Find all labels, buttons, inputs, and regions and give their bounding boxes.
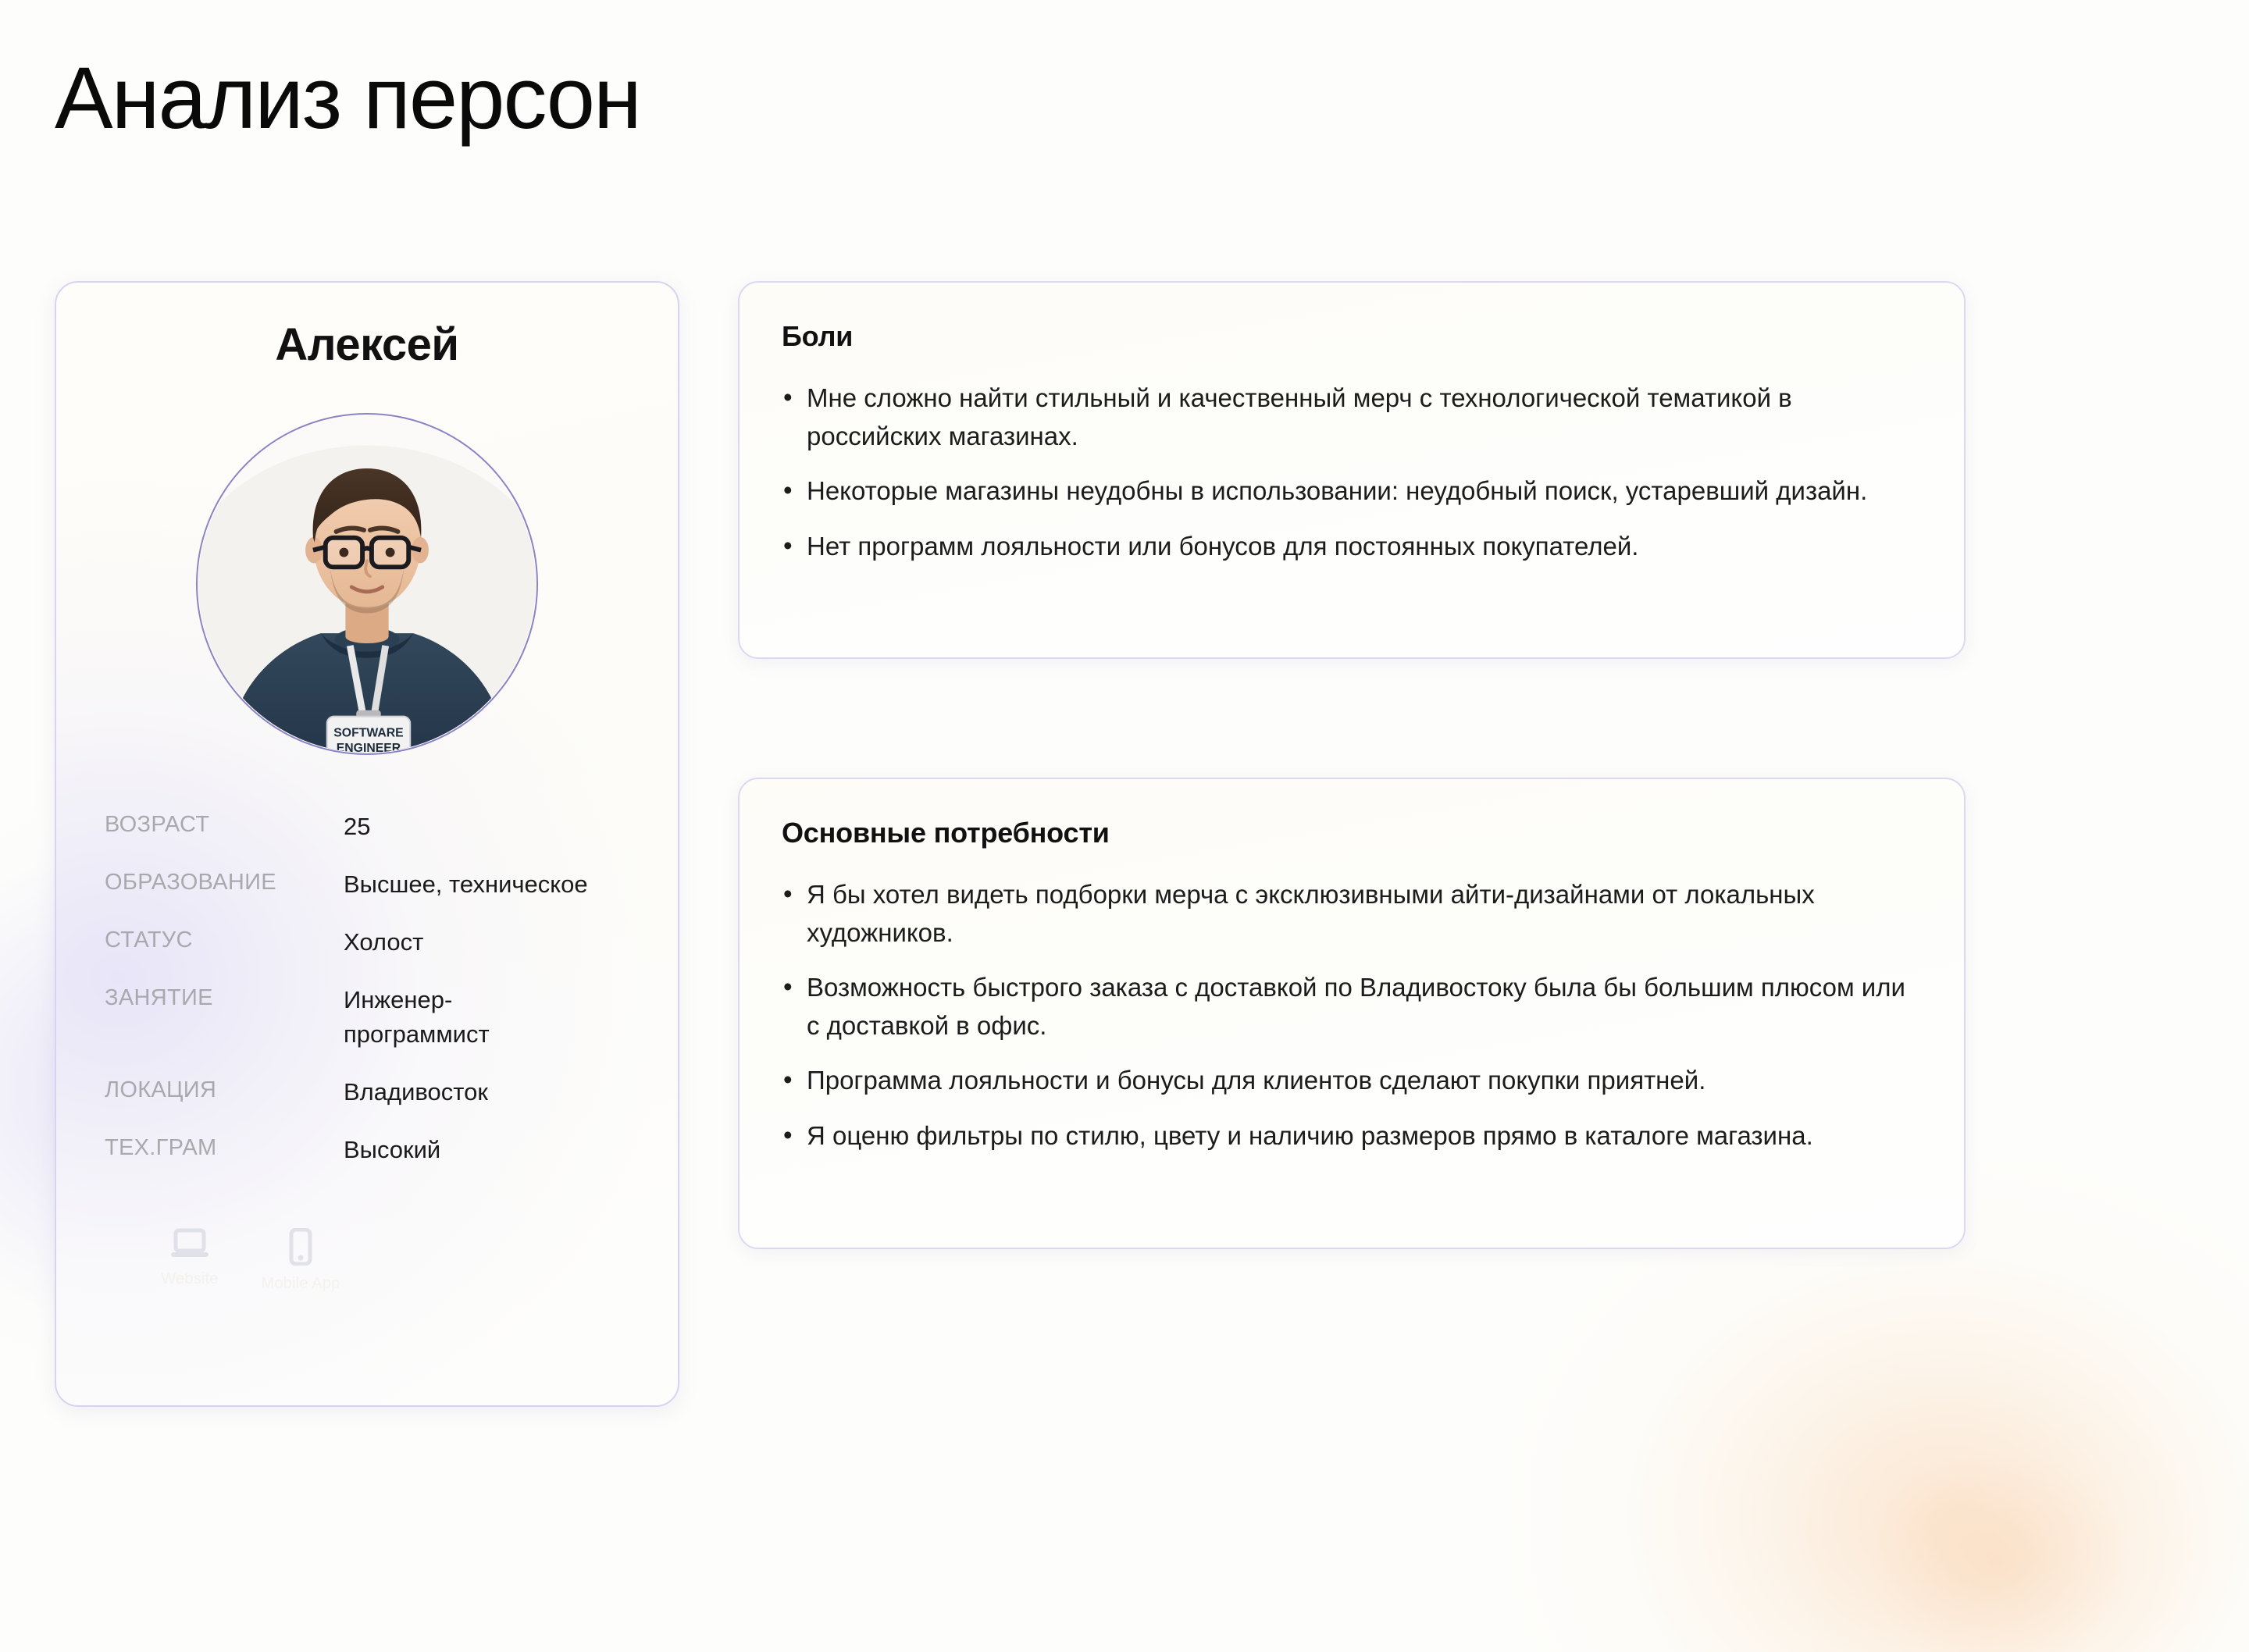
- attribute-value-status: Холост: [344, 925, 423, 960]
- attribute-label-age: ВОЗРАСТ: [105, 810, 344, 838]
- background-glow-warm-secondary: [1780, 1379, 2218, 1652]
- laptop-icon: [169, 1228, 210, 1261]
- needs-title: Основные потребности: [782, 817, 1922, 849]
- persona-attributes-table: ВОЗРАСТ 25 ОБРАЗОВАНИЕ Высшее, техническ…: [105, 810, 636, 1167]
- svg-text:SOFTWARE: SOFTWARE: [333, 726, 403, 739]
- list-item: Я бы хотел видеть подборки мерча с экскл…: [782, 876, 1922, 952]
- attribute-value-age: 25: [344, 810, 370, 844]
- attribute-label-tech-literacy: ТЕХ.ГРАМ: [105, 1133, 344, 1161]
- attribute-value-location: Владивосток: [344, 1075, 488, 1109]
- attribute-label-location: ЛОКАЦИЯ: [105, 1075, 344, 1103]
- list-item: Возможность быстрого заказа с доставкой …: [782, 969, 1922, 1045]
- table-row: ТЕХ.ГРАМ Высокий: [105, 1133, 636, 1167]
- channel-website: Website: [156, 1228, 223, 1293]
- table-row: ЗАНЯТИЕ Инженер-программист: [105, 983, 636, 1052]
- table-row: ЛОКАЦИЯ Владивосток: [105, 1075, 636, 1109]
- attribute-label-occupation: ЗАНЯТИЕ: [105, 983, 344, 1011]
- attribute-label-status: СТАТУС: [105, 925, 344, 953]
- persona-name: Алексей: [56, 319, 678, 371]
- needs-card: Основные потребности Я бы хотел видеть п…: [738, 778, 1966, 1249]
- persona-channels: Website Mobile App: [156, 1228, 678, 1293]
- avatar: SOFTWARE ENGINEER: [196, 413, 538, 755]
- list-item: Некоторые магазины неудобны в использова…: [782, 472, 1922, 511]
- pains-list: Мне сложно найти стильный и качественный…: [782, 379, 1922, 565]
- svg-text:ENGINEER: ENGINEER: [337, 742, 401, 753]
- list-item: Я оценю фильтры по стилю, цвету и наличи…: [782, 1117, 1922, 1155]
- pains-title: Боли: [782, 320, 1922, 353]
- list-item: Программа лояльности и бонусы для клиент…: [782, 1062, 1922, 1100]
- channel-label-mobile-app: Mobile App: [262, 1275, 340, 1293]
- mobile-phone-icon: [288, 1228, 313, 1266]
- channel-label-website: Website: [161, 1270, 218, 1288]
- persona-card: Алексей: [55, 281, 679, 1407]
- table-row: СТАТУС Холост: [105, 925, 636, 960]
- page-title: Анализ персон: [55, 50, 640, 146]
- list-item: Нет программ лояльности или бонусов для …: [782, 528, 1922, 566]
- table-row: ВОЗРАСТ 25: [105, 810, 636, 844]
- attribute-label-education: ОБРАЗОВАНИЕ: [105, 867, 344, 895]
- channel-mobile-app: Mobile App: [267, 1228, 334, 1293]
- needs-list: Я бы хотел видеть подборки мерча с экскл…: [782, 876, 1922, 1155]
- attribute-value-occupation: Инженер-программист: [344, 983, 523, 1052]
- pains-card: Боли Мне сложно найти стильный и качеств…: [738, 281, 1966, 659]
- attribute-value-education: Высшее, техническое: [344, 867, 588, 902]
- avatar-illustration: SOFTWARE ENGINEER: [198, 415, 536, 753]
- table-row: ОБРАЗОВАНИЕ Высшее, техническое: [105, 867, 636, 902]
- list-item: Мне сложно найти стильный и качественный…: [782, 379, 1922, 455]
- attribute-value-tech-literacy: Высокий: [344, 1133, 440, 1167]
